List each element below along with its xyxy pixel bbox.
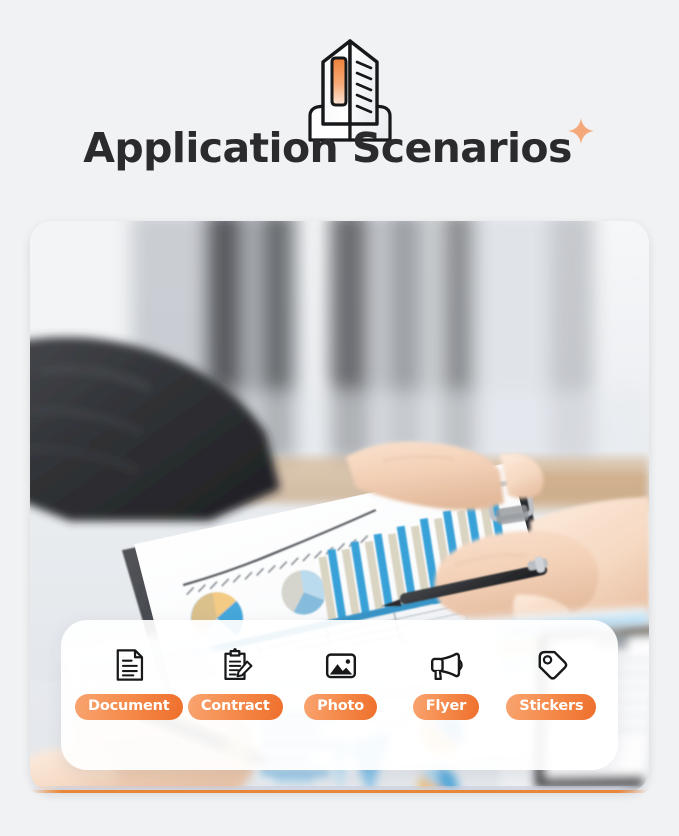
chip-contract[interactable]: Contract (183, 646, 288, 721)
chip-label-photo: Photo (304, 694, 377, 721)
card-bottom-accent (30, 786, 649, 793)
chip-document[interactable]: Document (75, 646, 183, 721)
image-icon (322, 646, 360, 684)
title-row: Application Scenarios (0, 128, 679, 169)
chip-label-contract: Contract (188, 694, 283, 721)
chip-flyer[interactable]: Flyer (393, 646, 498, 721)
page-title: Application Scenarios (83, 128, 572, 169)
tag-icon (532, 646, 570, 684)
chip-photo[interactable]: Photo (288, 646, 393, 721)
scenario-chips-panel: Document Contract (61, 620, 618, 770)
chip-stickers[interactable]: Stickers (499, 646, 604, 721)
clipboard-pencil-icon (216, 646, 254, 684)
sparkle-icon (566, 116, 596, 146)
chip-label-document: Document (75, 694, 183, 721)
document-icon (110, 646, 148, 684)
scenario-chips-row: Document Contract (61, 620, 618, 770)
header: Application Scenarios (0, 0, 679, 212)
megaphone-icon (427, 646, 465, 684)
chip-label-flyer: Flyer (413, 694, 479, 721)
chip-label-stickers: Stickers (506, 694, 596, 721)
